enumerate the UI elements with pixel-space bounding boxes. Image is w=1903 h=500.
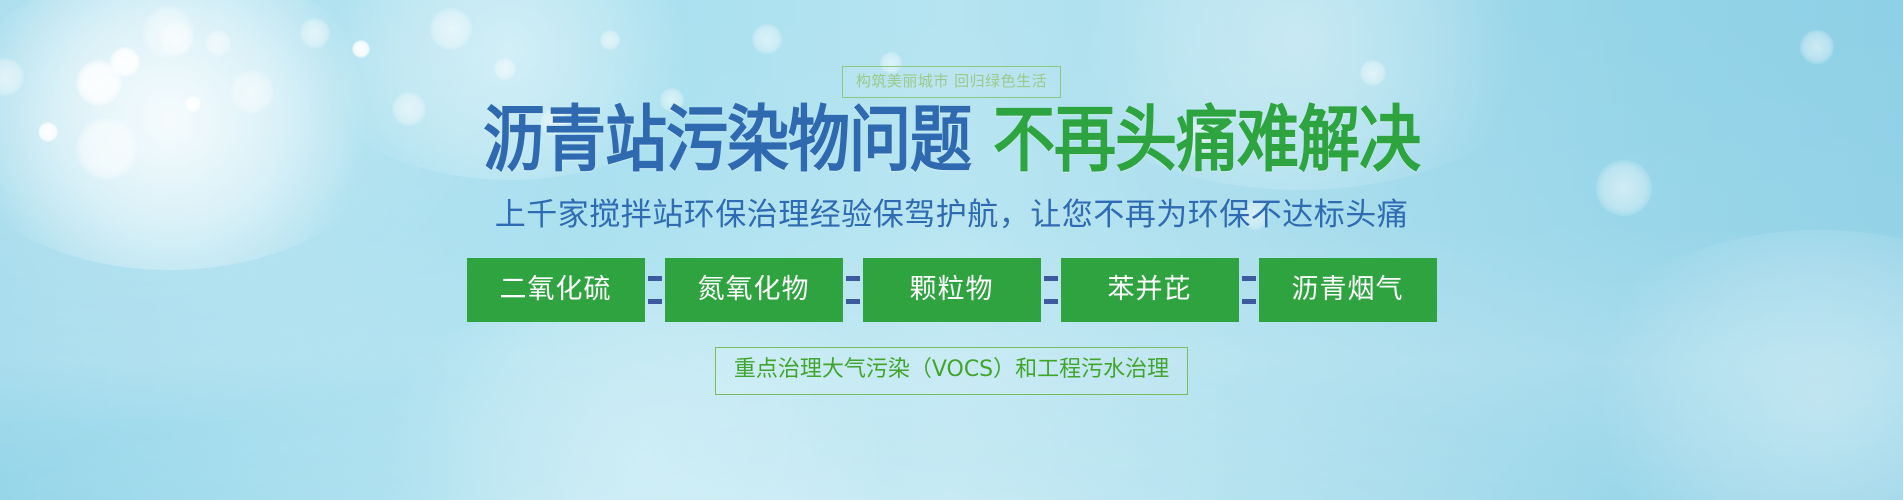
headline-accent: 不再头痛难解决 [993, 104, 1420, 176]
pollutant-tag[interactable]: 沥青烟气 [1259, 258, 1437, 322]
tagline-badge: 构筑美丽城市 回归绿色生活 [842, 66, 1061, 98]
page-subtitle: 上千家搅拌站环保治理经验保驾护航，让您不再为环保不达标头痛 [495, 200, 1409, 231]
tag-separator-icon [1239, 258, 1259, 322]
page-title: 沥青站污染物问题 不再头痛难解决 [483, 114, 1420, 176]
tag-separator-icon [645, 258, 665, 322]
tag-separator-icon [1041, 258, 1061, 322]
tag-separator-icon [843, 258, 863, 322]
pollutant-tag[interactable]: 苯并芘 [1061, 258, 1239, 322]
headline-primary: 沥青站污染物问题 [483, 104, 971, 176]
pollutant-tag[interactable]: 颗粒物 [863, 258, 1041, 322]
service-scope-badge: 重点治理大气污染（VOCS）和工程污水治理 [715, 347, 1188, 395]
promo-banner: 构筑美丽城市 回归绿色生活 沥青站污染物问题 不再头痛难解决 上千家搅拌站环保治… [0, 0, 1903, 500]
pollutant-tag-row: 二氧化硫 氮氧化物 颗粒物 苯并芘 沥青烟气 [467, 258, 1437, 322]
pollutant-tag[interactable]: 二氧化硫 [467, 258, 645, 322]
banner-content: 构筑美丽城市 回归绿色生活 沥青站污染物问题 不再头痛难解决 上千家搅拌站环保治… [0, 0, 1903, 500]
pollutant-tag[interactable]: 氮氧化物 [665, 258, 843, 322]
